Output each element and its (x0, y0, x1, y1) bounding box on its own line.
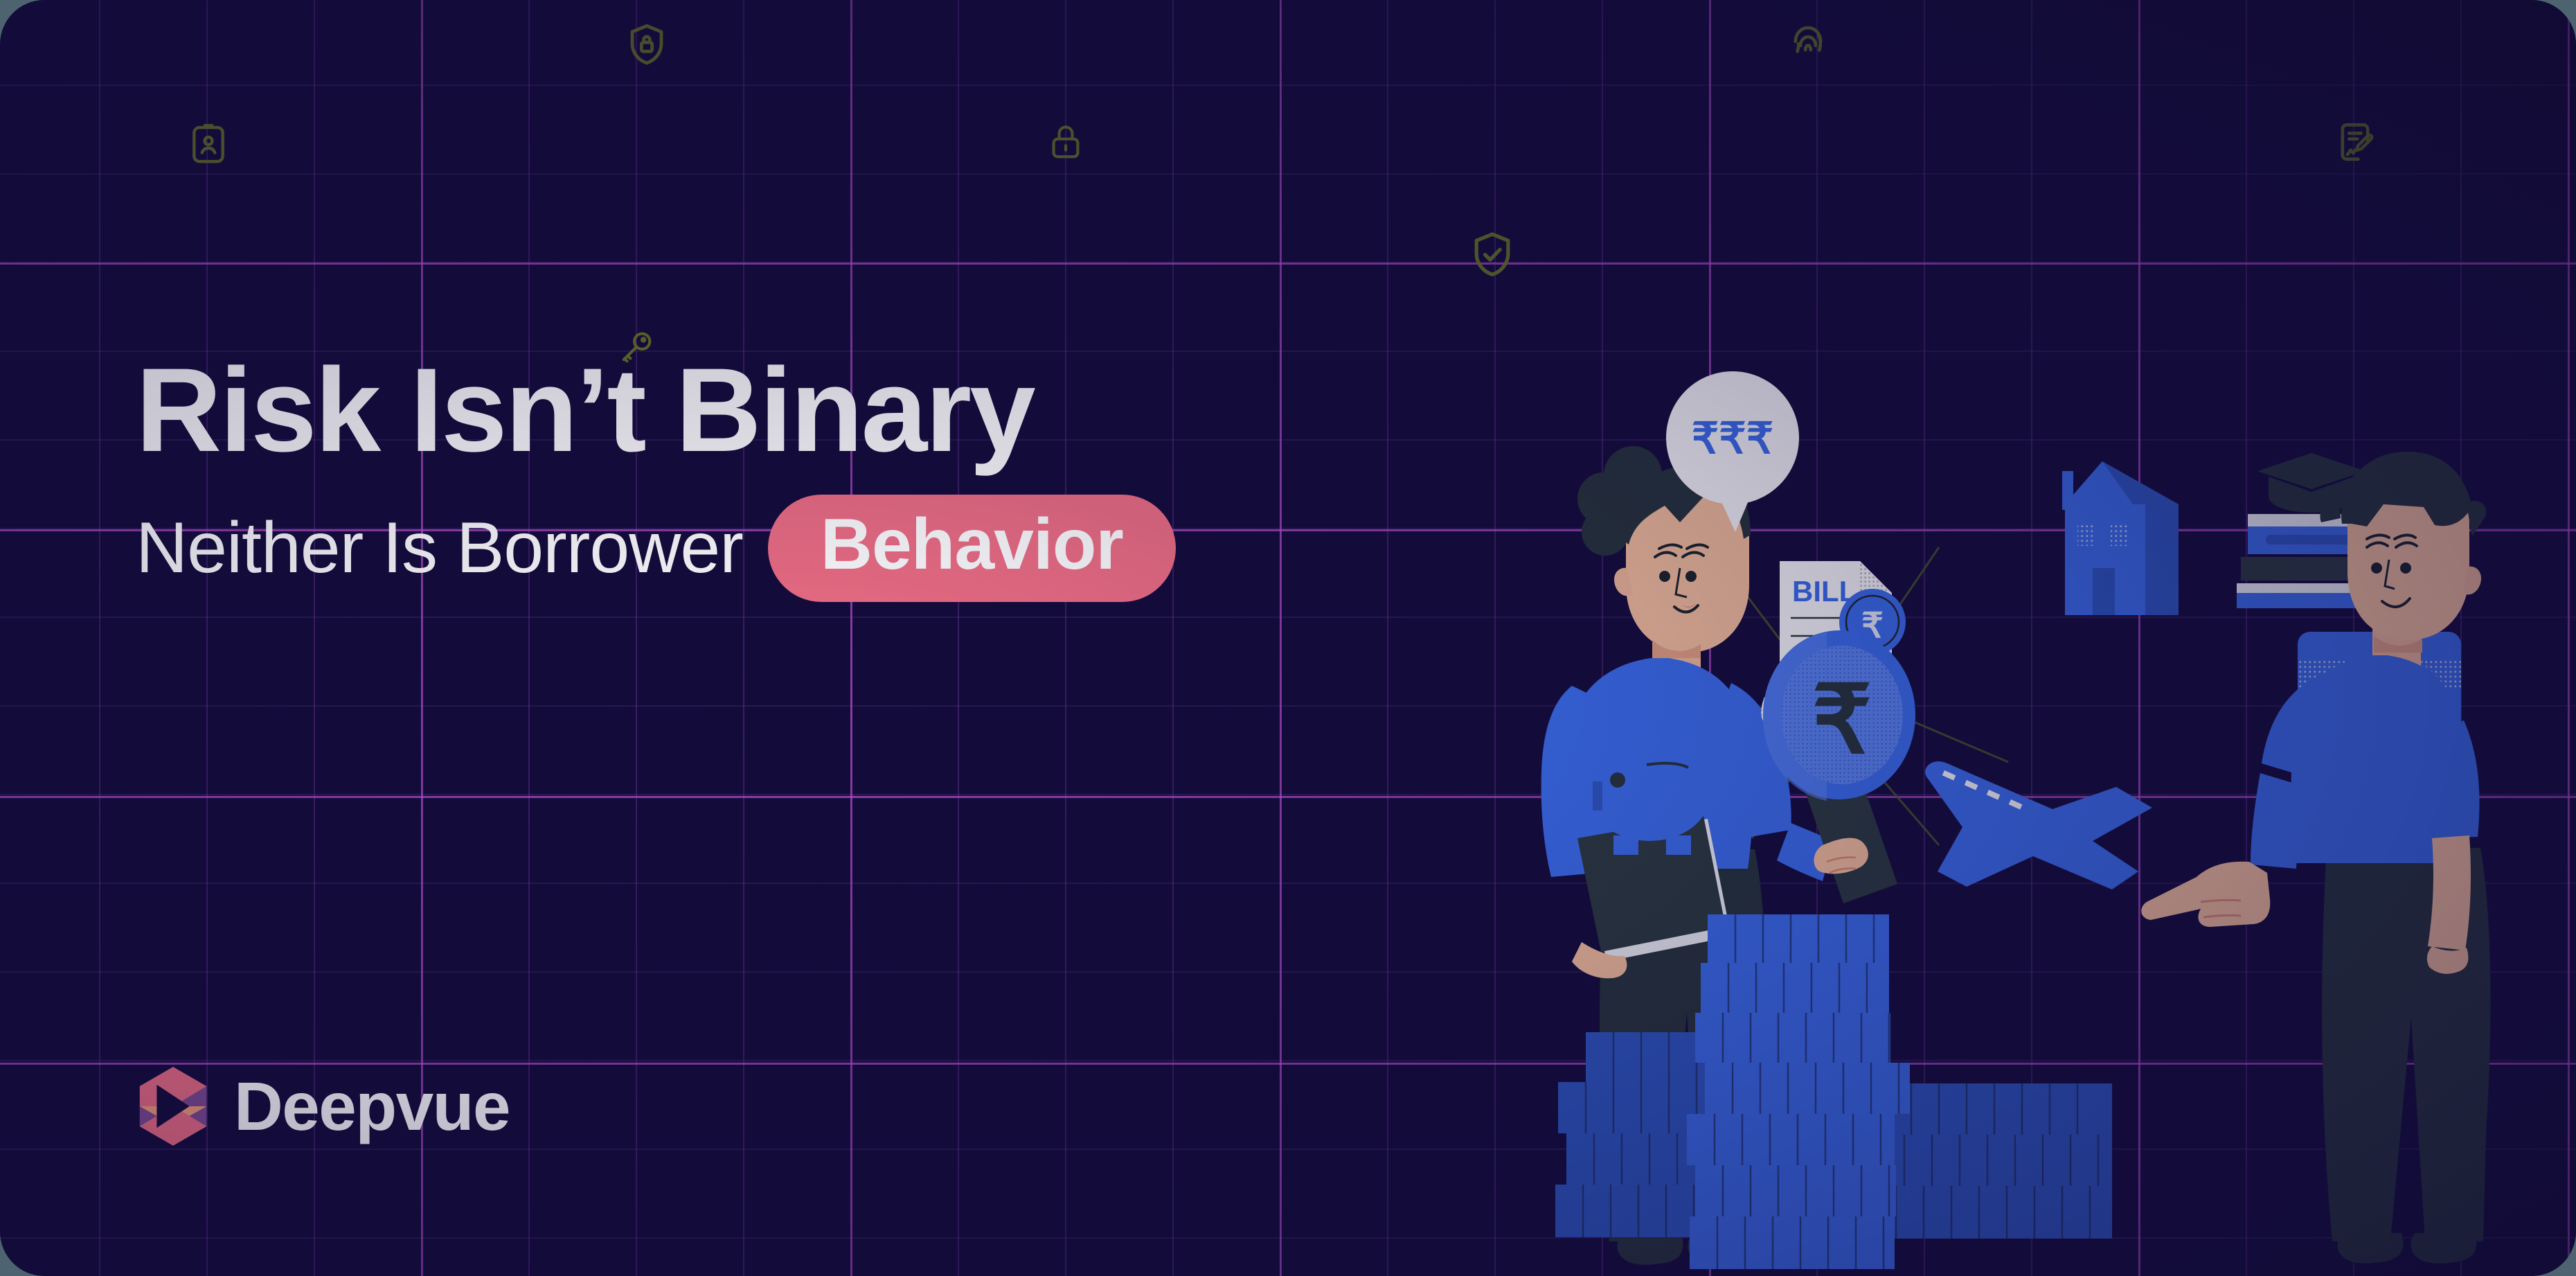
behavior-highlight-pill: Behavior (768, 495, 1176, 601)
rupee-coin: ₹ (1763, 630, 1915, 801)
padlock-icon (1046, 118, 1086, 165)
logo-wordmark: Deepvue (234, 1067, 510, 1146)
hero-copy: Risk Isn’t Binary Neither Is Borrower Be… (136, 350, 1451, 602)
speech-bubble-text: ₹₹₹ (1692, 415, 1773, 463)
deepvue-hexagon-mark (136, 1065, 211, 1147)
subheadline-row: Neither Is Borrower Behavior (136, 495, 1451, 601)
subheadline: Neither Is Borrower (136, 507, 743, 590)
hero-banner: Risk Isn’t Binary Neither Is Borrower Be… (0, 0, 2576, 1276)
shield-lock-icon (623, 18, 670, 71)
id-badge-icon (187, 118, 230, 168)
fingerprint-icon (1785, 12, 1831, 65)
illustration-panel: ₹₹₹ BILL ₹ (1523, 360, 2576, 1276)
deepvue-logo[interactable]: Deepvue (136, 1065, 510, 1147)
house-icon (2062, 461, 2179, 615)
page-title: Risk Isn’t Binary (136, 350, 1451, 471)
shield-check-icon (1467, 226, 1518, 283)
rupee-coin-symbol: ₹ (1812, 667, 1872, 772)
airplane-icon (1925, 761, 2152, 889)
document-sign-icon (2332, 116, 2378, 168)
